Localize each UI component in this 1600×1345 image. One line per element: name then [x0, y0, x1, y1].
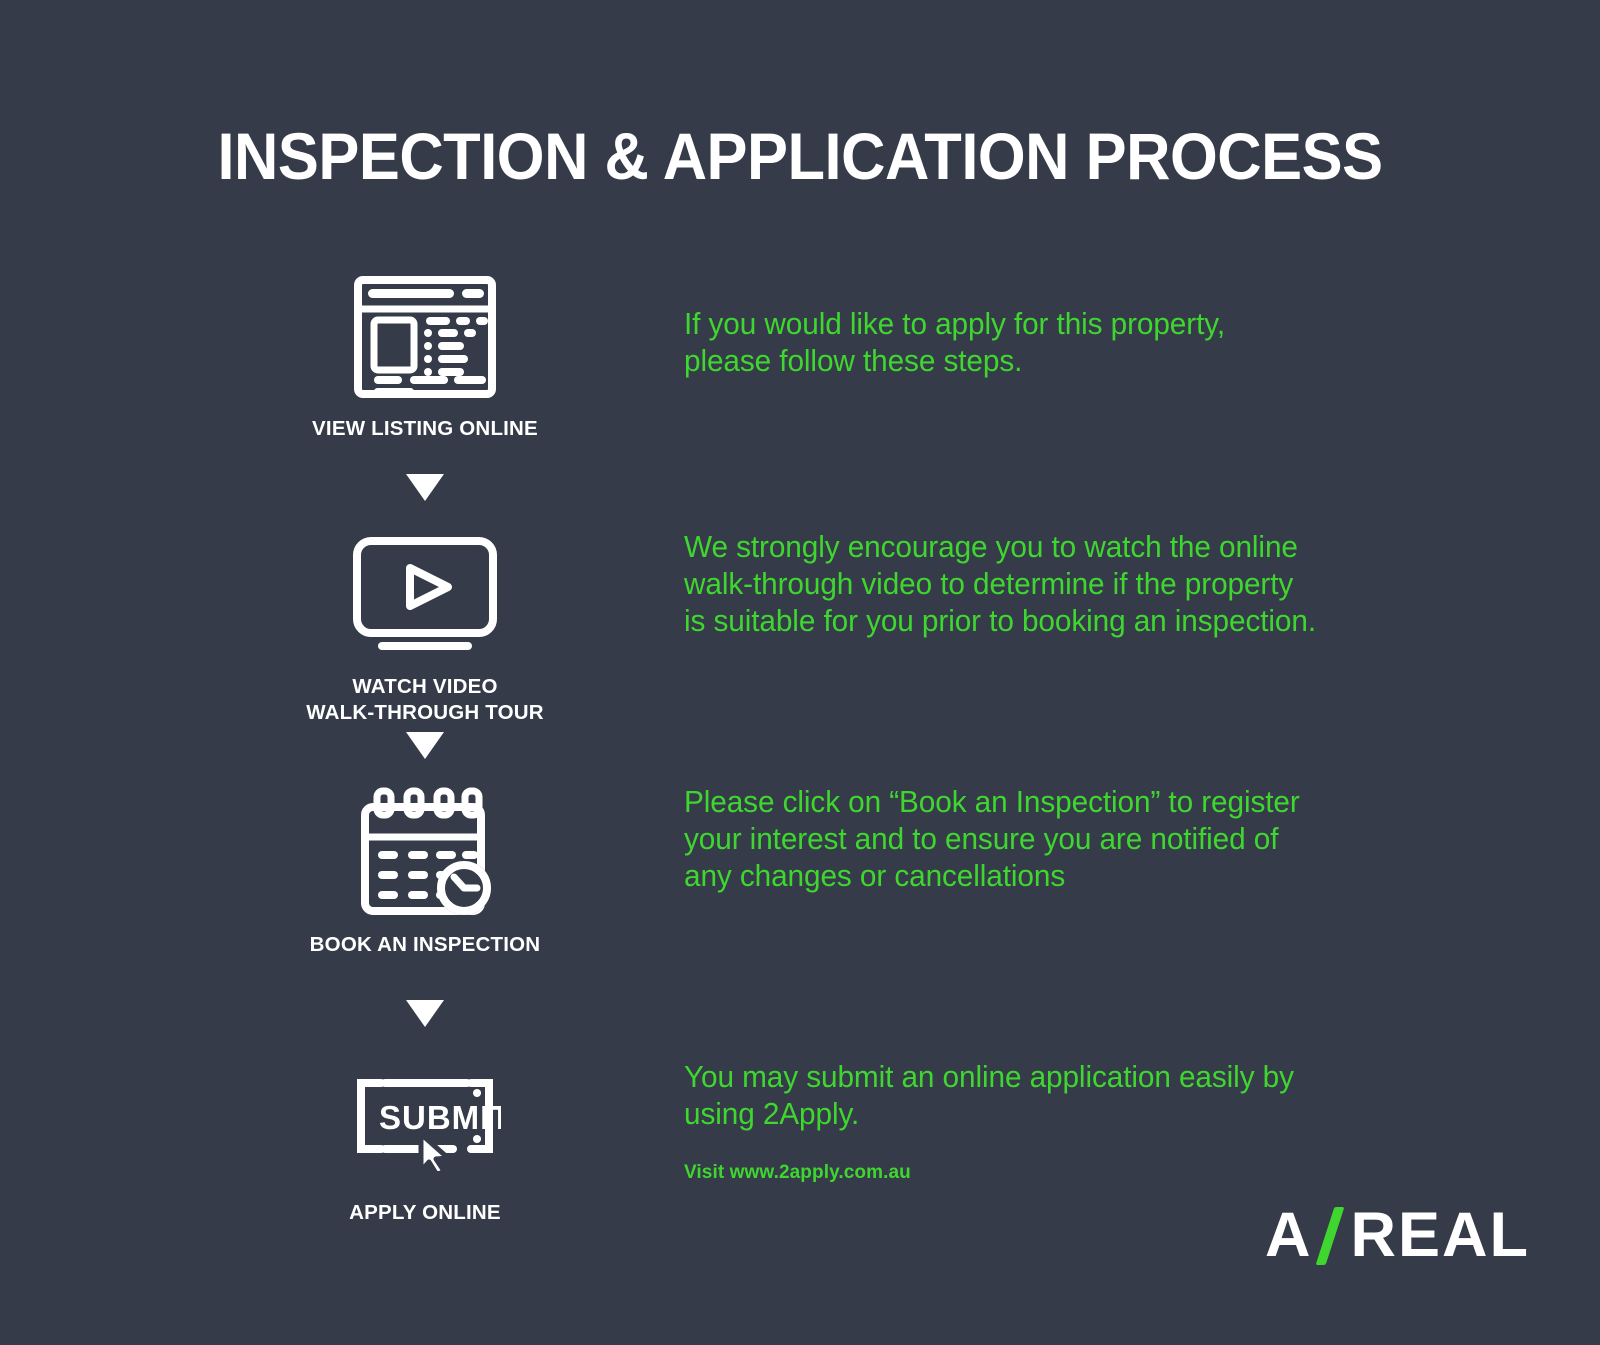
logo-text-right: REAL: [1351, 1204, 1531, 1267]
browser-listing-icon: [354, 276, 496, 398]
down-triangle-icon: [406, 732, 444, 759]
visit-url-link[interactable]: Visit www.2apply.com.au: [684, 1162, 911, 1184]
step-book-inspection: BOOK AN INSPECTION: [300, 778, 550, 958]
copy-apply: You may submit an online application eas…: [684, 1058, 1394, 1132]
step-view-listing: VIEW LISTING ONLINE: [300, 262, 550, 442]
copy-inspection: Please click on “Book an Inspection” to …: [684, 783, 1394, 894]
browser-listing-icon-wrap: [300, 262, 550, 412]
step-label-book-inspection: BOOK AN INSPECTION: [300, 932, 550, 958]
submit-button-cursor-icon-wrap: SUBMIT: [300, 1046, 550, 1196]
calendar-clock-icon-wrap: [300, 778, 550, 928]
submit-button-cursor-icon: SUBMIT: [349, 1071, 501, 1171]
submit-icon-text: SUBMIT: [379, 1099, 501, 1136]
copy-video: We strongly encourage you to watch the o…: [684, 528, 1414, 639]
flow-arrow-2: [300, 732, 550, 759]
logo-text-left: A: [1265, 1204, 1313, 1267]
step-label-watch-video: WATCH VIDEO WALK-THROUGH TOUR: [300, 674, 550, 726]
video-play-monitor-icon-wrap: [300, 520, 550, 670]
calendar-clock-icon: [351, 785, 499, 921]
infographic-page: INSPECTION & APPLICATION PROCESS: [0, 0, 1600, 1345]
step-apply-online: SUBMIT APPLY ONLINE: [300, 1046, 550, 1226]
step-watch-video: WATCH VIDEO WALK-THROUGH TOUR: [300, 520, 550, 726]
areal-logo: A REAL: [1265, 1204, 1530, 1267]
flow-arrow-1: [300, 474, 550, 501]
step-label-view-listing: VIEW LISTING ONLINE: [300, 416, 550, 442]
logo-slash-icon: [1315, 1207, 1344, 1265]
flow-arrow-3: [300, 1000, 550, 1027]
down-triangle-icon: [406, 1000, 444, 1027]
copy-intro: If you would like to apply for this prop…: [684, 305, 1414, 379]
page-title: INSPECTION & APPLICATION PROCESS: [56, 118, 1544, 194]
down-triangle-icon: [406, 474, 444, 501]
video-play-monitor-icon: [352, 536, 498, 654]
step-label-apply-online: APPLY ONLINE: [300, 1200, 550, 1226]
